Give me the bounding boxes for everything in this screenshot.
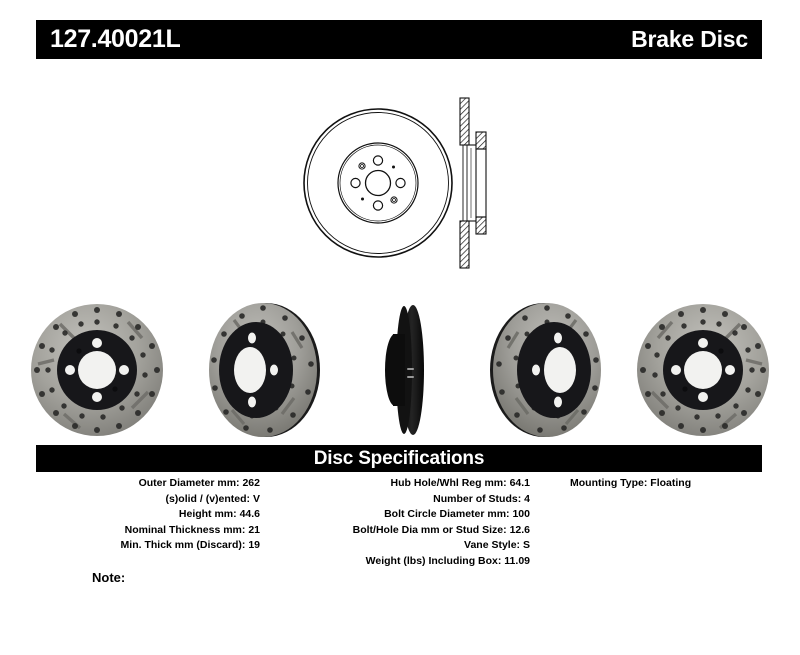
- spec-column-left: Outer Diameter mm: 262 (s)olid / (v)ente…: [36, 476, 266, 569]
- spec-value: 21: [248, 524, 260, 536]
- rotor-photo-angled-left: [190, 298, 340, 448]
- technical-line-drawing: [300, 88, 515, 278]
- disc-face-line-drawing: [304, 109, 452, 257]
- spec-row: Hub Hole/Whl Reg mm: 64.1: [266, 476, 530, 492]
- spec-label: Hub Hole/Whl Reg mm:: [391, 477, 507, 489]
- spec-value: Floating: [650, 477, 691, 489]
- spec-label: Mounting Type:: [570, 477, 647, 489]
- product-type-title: Brake Disc: [631, 28, 748, 51]
- spec-row: Height mm: 44.6: [36, 507, 260, 523]
- spec-label: Outer Diameter mm:: [139, 477, 240, 489]
- spec-value: 19: [248, 539, 260, 551]
- spec-label: Weight (lbs) Including Box:: [366, 555, 502, 567]
- spec-row: Bolt Circle Diameter mm: 100: [266, 507, 530, 523]
- spec-column-middle: Hub Hole/Whl Reg mm: 64.1 Number of Stud…: [266, 476, 536, 569]
- spec-title-bar: Disc Specifications: [36, 445, 762, 472]
- rotor-photo-edge: [373, 298, 445, 448]
- spec-label: (s)olid / (v)ented:: [165, 493, 250, 505]
- spec-label: Bolt Circle Diameter mm:: [384, 508, 509, 520]
- spec-value: 44.6: [240, 508, 260, 520]
- spec-value: S: [523, 539, 530, 551]
- spec-label: Min. Thick mm (Discard):: [121, 539, 246, 551]
- rotor-photo-front-left: [24, 298, 174, 448]
- spec-row: Mounting Type: Floating: [570, 476, 762, 492]
- spec-value: 100: [512, 508, 530, 520]
- rotor-photo-angled-right: [470, 298, 620, 448]
- spec-label: Height mm:: [179, 508, 237, 520]
- spec-title: Disc Specifications: [314, 449, 484, 468]
- spec-value: 11.09: [504, 555, 530, 567]
- spec-row: Vane Style: S: [266, 538, 530, 554]
- spec-label: Vane Style:: [464, 539, 520, 551]
- spec-label: Bolt/Hole Dia mm or Stud Size:: [353, 524, 507, 536]
- spec-row: Bolt/Hole Dia mm or Stud Size: 12.6: [266, 523, 530, 539]
- header-bar: 127.40021L Brake Disc: [36, 20, 762, 59]
- part-number: 127.40021L: [50, 27, 180, 52]
- note-label: Note:: [92, 570, 125, 585]
- spec-table: Outer Diameter mm: 262 (s)olid / (v)ente…: [36, 476, 762, 569]
- spec-row: Weight (lbs) Including Box: 11.09: [266, 554, 530, 570]
- rotor-photo-front-right: [630, 298, 780, 448]
- spec-value: 12.6: [510, 524, 530, 536]
- disc-cross-section-line-drawing: [460, 98, 486, 268]
- spec-value: V: [253, 493, 260, 505]
- spec-value: 64.1: [510, 477, 530, 489]
- spec-label: Number of Studs:: [433, 493, 521, 505]
- product-photo-row: [18, 298, 786, 443]
- spec-column-right: Mounting Type: Floating: [536, 476, 762, 569]
- note-block: Note:: [92, 570, 329, 585]
- spec-value: 4: [524, 493, 530, 505]
- spec-value: 262: [242, 477, 260, 489]
- spec-row: Min. Thick mm (Discard): 19: [36, 538, 260, 554]
- spec-row: Number of Studs: 4: [266, 492, 530, 508]
- spec-label: Nominal Thickness mm:: [125, 524, 246, 536]
- spec-row: Outer Diameter mm: 262: [36, 476, 260, 492]
- spec-row: (s)olid / (v)ented: V: [36, 492, 260, 508]
- spec-row: Nominal Thickness mm: 21: [36, 523, 260, 539]
